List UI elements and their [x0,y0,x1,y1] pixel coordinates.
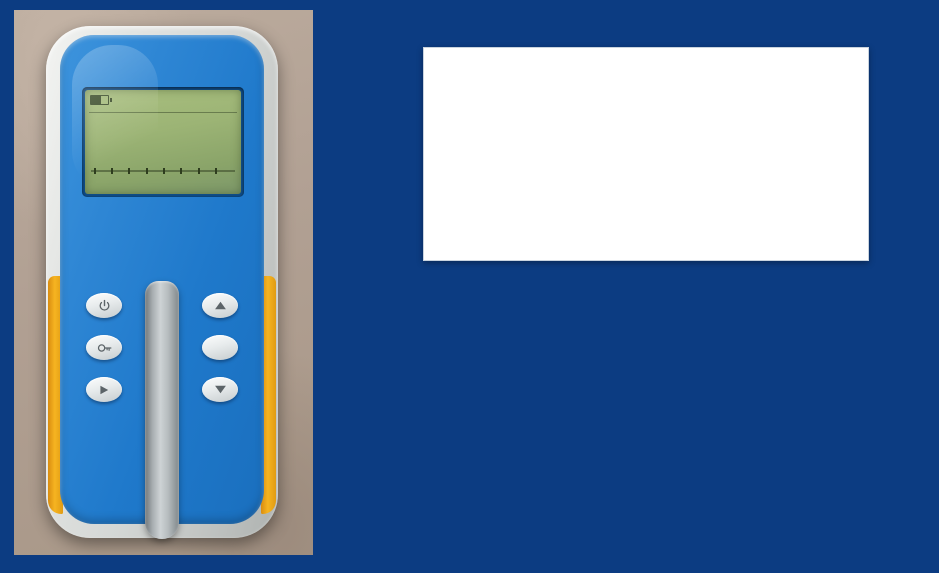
menu-button[interactable] [202,335,238,360]
triangle-down-icon [214,384,227,395]
key-icon [97,342,112,354]
power-icon [98,299,111,312]
play-button[interactable] [86,377,122,402]
power-button[interactable] [86,293,122,318]
lcd-bezel [82,87,244,197]
device-front-face [60,35,264,524]
battery-icon [90,95,109,105]
lcd-screen [85,90,241,194]
search-button[interactable] [86,335,122,360]
down-button[interactable] [202,377,238,402]
triangle-up-icon [214,300,227,311]
lcd-readout [92,116,235,168]
up-button[interactable] [202,293,238,318]
product-photo [14,10,313,555]
lcd-divider [89,112,237,113]
slide-caption [330,318,930,326]
device-handle [145,281,179,539]
software-report-screenshot [423,47,869,261]
handheld-detector-device [46,26,278,538]
triangle-right-icon [98,384,110,396]
spreadsheet-region [426,50,866,96]
lcd-bargraph [91,168,235,174]
chart-grid [426,98,866,258]
device-brand-label [60,203,264,205]
lcd-status-bar [90,93,236,106]
lcd-scale-labels [90,178,236,191]
slide-root [0,0,939,573]
